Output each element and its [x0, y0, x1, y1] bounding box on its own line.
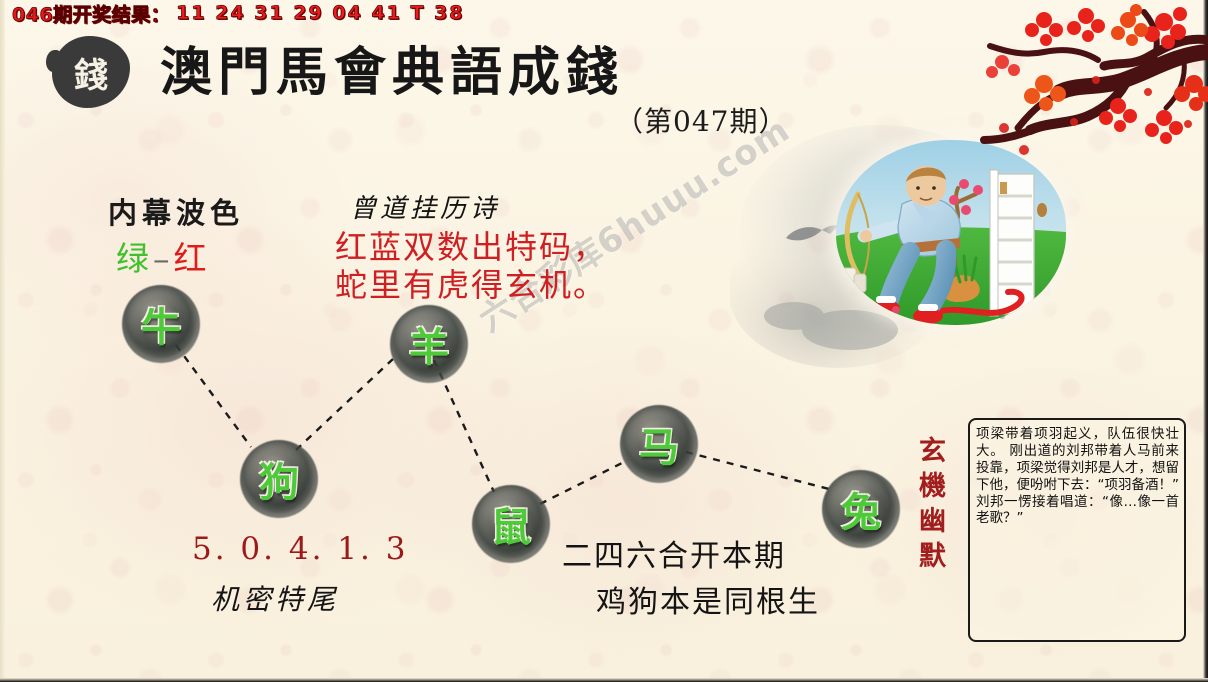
zodiac-label: 牛 [122, 285, 200, 363]
page-title: 澳門馬會典語成錢 [160, 30, 624, 105]
story-panel: 项梁带着项羽起义，队伍很快壮大。 刚出道的刘邦带着人马前来投靠，项梁觉得刘邦是人… [968, 418, 1186, 642]
qian-seal-logo: 錢 [52, 36, 130, 108]
poem-title: 曾道挂历诗 [350, 188, 500, 225]
seal-character: 錢 [52, 36, 130, 108]
zodiac-stone-horse[interactable]: 马 [620, 405, 698, 483]
zodiac-stone-ox[interactable]: 牛 [122, 285, 200, 363]
plum-blossom-branch-decoration [978, 0, 1208, 170]
color-separator: – [153, 239, 172, 278]
zodiac-label: 羊 [390, 305, 468, 383]
zodiac-stone-rabbit[interactable]: 兔 [822, 470, 900, 548]
zodiac-stone-dog[interactable]: 狗 [240, 440, 318, 518]
secret-tail-label: 机密特尾 [211, 578, 339, 618]
zodiac-stone-goat[interactable]: 羊 [390, 305, 468, 383]
left-edge-strip [0, 0, 5, 682]
poster-canvas: 046期开奖结果： 11 24 31 29 04 41 T 38 [0, 0, 1208, 682]
issue-number: （第047期） [615, 100, 787, 140]
color-red-label: 红 [174, 239, 209, 278]
secret-tail-numbers: 5. 0. 4. 1. 3 [192, 531, 408, 567]
zodiac-label: 马 [620, 405, 698, 483]
zodiac-label: 狗 [240, 440, 318, 518]
poem-line-2: 蛇里有虎得玄机。 [335, 260, 607, 306]
color-green-label: 绿 [116, 239, 151, 278]
middle-line-1: 二四六合开本期 [562, 531, 786, 575]
bottom-edge-strip [0, 678, 1208, 682]
mystery-humor-vertical-label: 玄機幽默 [916, 436, 943, 576]
result-banner-label: 046期开奖结果： [12, 0, 170, 27]
story-text: 项梁带着项羽起义，队伍很快壮大。 刚出道的刘邦带着人马前来投靠，项梁觉得刘邦是人… [976, 426, 1179, 527]
inside-color-title: 内幕波色 [108, 190, 244, 232]
result-banner-numbers: 11 24 31 29 04 41 T 38 [176, 2, 464, 24]
zodiac-label: 兔 [822, 470, 900, 548]
zodiac-stone-rat[interactable]: 鼠 [472, 485, 550, 563]
inside-color-value: 绿–红 [116, 232, 209, 280]
zodiac-label: 鼠 [472, 485, 550, 563]
lottery-result-banner: 046期开奖结果： 11 24 31 29 04 41 T 38 [12, 1, 465, 25]
middle-line-2: 鸡狗本是同根生 [596, 577, 820, 621]
